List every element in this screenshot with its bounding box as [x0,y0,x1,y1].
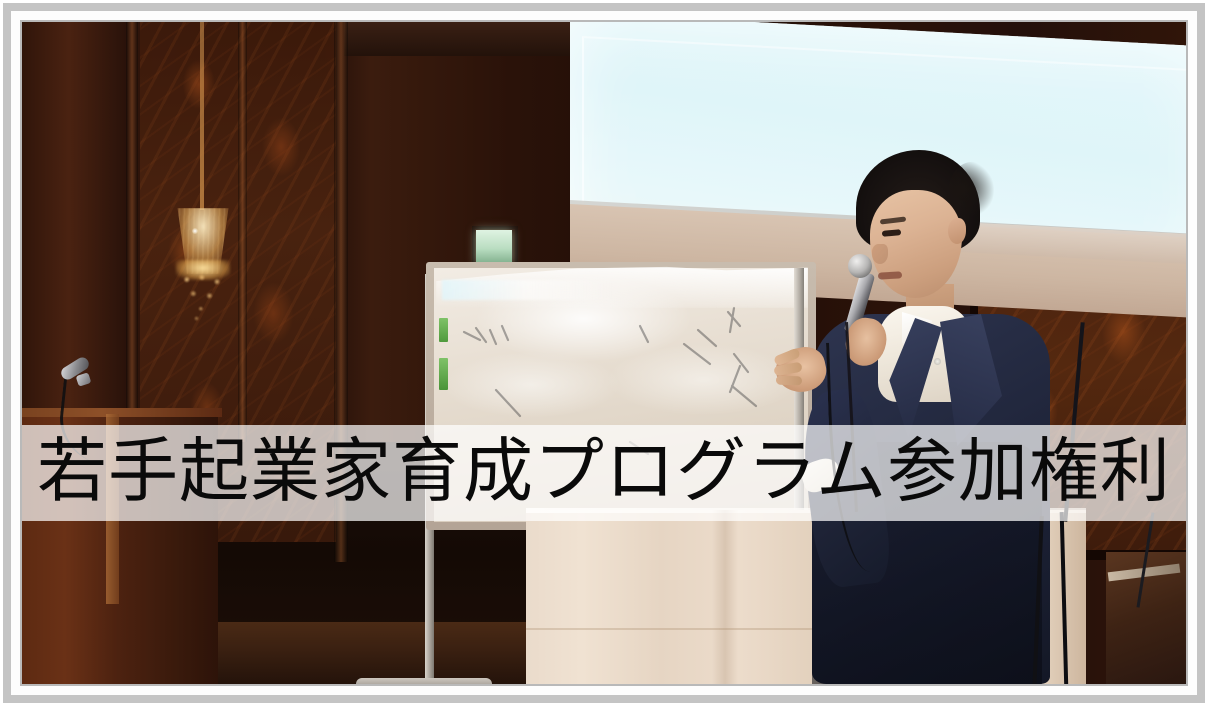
speaker-lapel-pin [934,358,941,365]
speaker-presenting [22,22,1186,684]
speaker-ear [948,218,966,244]
caption-overlay-band: 若手起業家育成プログラム参加権利 [22,425,1186,521]
caption-text: 若手起業家育成プログラム参加権利 [37,438,1171,508]
microphone-head [848,254,872,278]
speaker-finger-ring [776,376,802,386]
framed-photo-figure: 若手起業家育成プログラム参加権利 [0,0,1208,706]
speaker-nose [872,244,888,264]
seminar-photograph: 若手起業家育成プログラム参加権利 [22,22,1186,684]
speaker-mouth [878,271,902,279]
